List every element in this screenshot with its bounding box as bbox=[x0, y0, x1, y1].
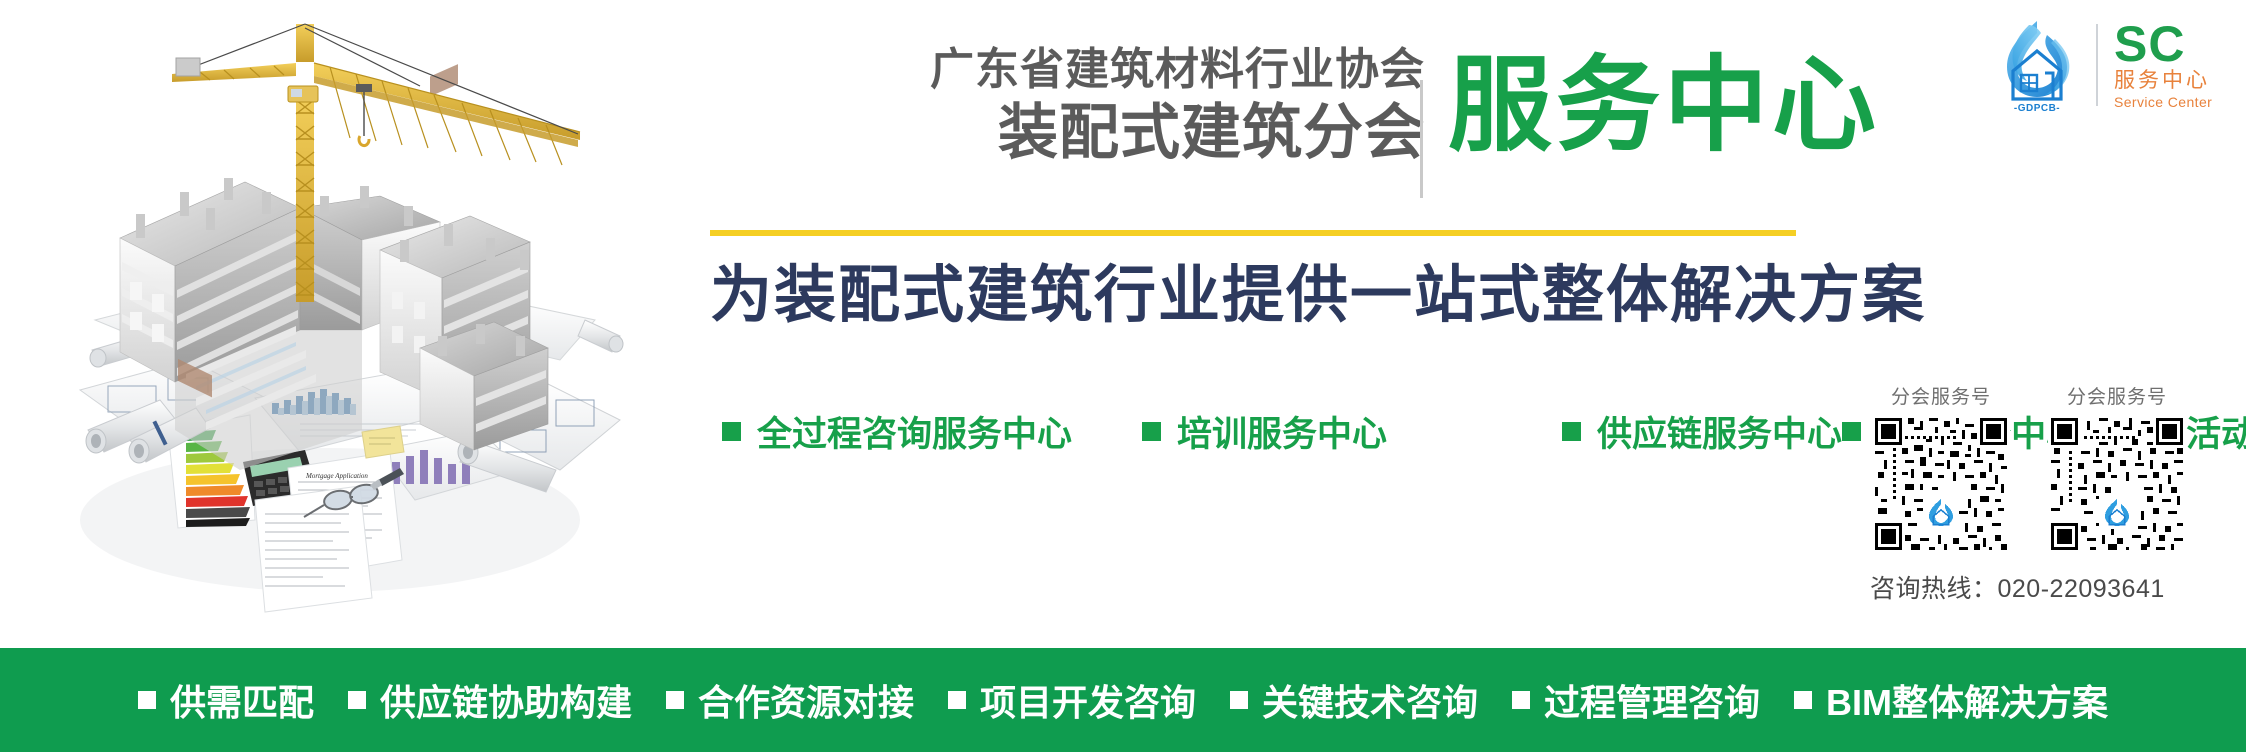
header-divider bbox=[1420, 80, 1423, 198]
footer-item-label: 供应链协助构建 bbox=[380, 674, 632, 726]
square-bullet-icon bbox=[666, 691, 684, 709]
footer-item-label: 供需匹配 bbox=[170, 674, 314, 726]
qr-item-0: 分会服务号 bbox=[1866, 382, 2016, 553]
square-bullet-icon bbox=[1142, 422, 1161, 441]
footer-item-label: 合作资源对接 bbox=[698, 674, 914, 726]
qr-contact-block: 分会服务号 bbox=[1866, 382, 2238, 605]
service-item-2[interactable]: 供应链服务中心 bbox=[1562, 406, 1842, 457]
promotional-banner: Mortgage Application bbox=[0, 0, 2246, 752]
service-item-label: 培训服务中心 bbox=[1177, 406, 1387, 457]
footer-item-label: BIM整体解决方案 bbox=[1826, 674, 2108, 726]
square-bullet-icon bbox=[1794, 691, 1812, 709]
square-bullet-icon bbox=[1512, 691, 1530, 709]
square-bullet-icon bbox=[348, 691, 366, 709]
square-bullet-icon bbox=[1230, 691, 1248, 709]
logo-en-text: Service Center bbox=[2114, 94, 2212, 111]
footer-item-label: 项目开发咨询 bbox=[980, 674, 1196, 726]
qr-label: 分会服务号 bbox=[1866, 382, 2016, 409]
footer-item-5[interactable]: 过程管理咨询 bbox=[1512, 674, 1760, 726]
yellow-divider bbox=[710, 230, 1796, 236]
footer-item-3[interactable]: 项目开发咨询 bbox=[948, 674, 1196, 726]
service-center-heading: 服务中心 bbox=[1448, 48, 1880, 164]
footer-item-6[interactable]: BIM整体解决方案 bbox=[1794, 674, 2108, 726]
association-name-line2: 装配式建筑分会 bbox=[585, 98, 1425, 168]
square-bullet-icon bbox=[948, 691, 966, 709]
square-bullet-icon bbox=[1562, 422, 1581, 441]
logo-divider bbox=[2096, 24, 2098, 106]
brand-logo: -GDPCB- SC 服务中心 Service Center bbox=[1985, 14, 2237, 116]
footer-item-label: 过程管理咨询 bbox=[1544, 674, 1760, 726]
gdpcb-logo-icon: -GDPCB- bbox=[1985, 15, 2090, 115]
service-center-list: 全过程咨询服务中心 培训服务中心 供应链服务中心 BIM服务中心 会展活动服务中… bbox=[722, 405, 1802, 457]
footer-item-0[interactable]: 供需匹配 bbox=[138, 674, 314, 726]
service-item-label: 全过程咨询服务中心 bbox=[757, 406, 1072, 457]
footer-item-4[interactable]: 关键技术咨询 bbox=[1230, 674, 1478, 726]
construction-illustration: Mortgage Application bbox=[0, 0, 650, 650]
square-bullet-icon bbox=[1842, 422, 1861, 441]
qr-code-image[interactable] bbox=[2048, 415, 2186, 553]
svg-text:-GDPCB-: -GDPCB- bbox=[2014, 103, 2060, 114]
qr-code-image[interactable] bbox=[1872, 415, 2010, 553]
association-name-line1: 广东省建筑材料行业协会 bbox=[585, 42, 1425, 98]
service-item-0[interactable]: 全过程咨询服务中心 bbox=[722, 406, 1142, 457]
footer-item-1[interactable]: 供应链协助构建 bbox=[348, 674, 632, 726]
footer-item-2[interactable]: 合作资源对接 bbox=[666, 674, 914, 726]
qr-label: 分会服务号 bbox=[2042, 382, 2192, 409]
qr-row: 分会服务号 bbox=[1866, 382, 2238, 553]
square-bullet-icon bbox=[722, 422, 741, 441]
association-title: 广东省建筑材料行业协会 装配式建筑分会 bbox=[585, 42, 1425, 168]
svg-text:Mortgage Application: Mortgage Application bbox=[305, 472, 368, 480]
logo-cn-text: 服务中心 bbox=[2114, 68, 2212, 94]
logo-wordmark: SC 服务中心 Service Center bbox=[2114, 20, 2212, 111]
footer-item-list: 供需匹配 供应链协助构建 合作资源对接 项目开发咨询 关键技术咨询 过程管理咨询 bbox=[138, 674, 2108, 726]
square-bullet-icon bbox=[138, 691, 156, 709]
footer-bar: 供需匹配 供应链协助构建 合作资源对接 项目开发咨询 关键技术咨询 过程管理咨询 bbox=[0, 648, 2246, 752]
service-item-label: 供应链服务中心 bbox=[1597, 406, 1842, 457]
service-item-1[interactable]: 培训服务中心 bbox=[1142, 406, 1562, 457]
main-slogan: 为装配式建筑行业提供一站式整体解决方案 bbox=[710, 258, 1926, 334]
hotline-text: 咨询热线：020-22093641 bbox=[1866, 569, 2238, 605]
footer-item-label: 关键技术咨询 bbox=[1262, 674, 1478, 726]
qr-item-1: 分会服务号 bbox=[2042, 382, 2192, 553]
logo-sc-text: SC bbox=[2114, 20, 2212, 68]
